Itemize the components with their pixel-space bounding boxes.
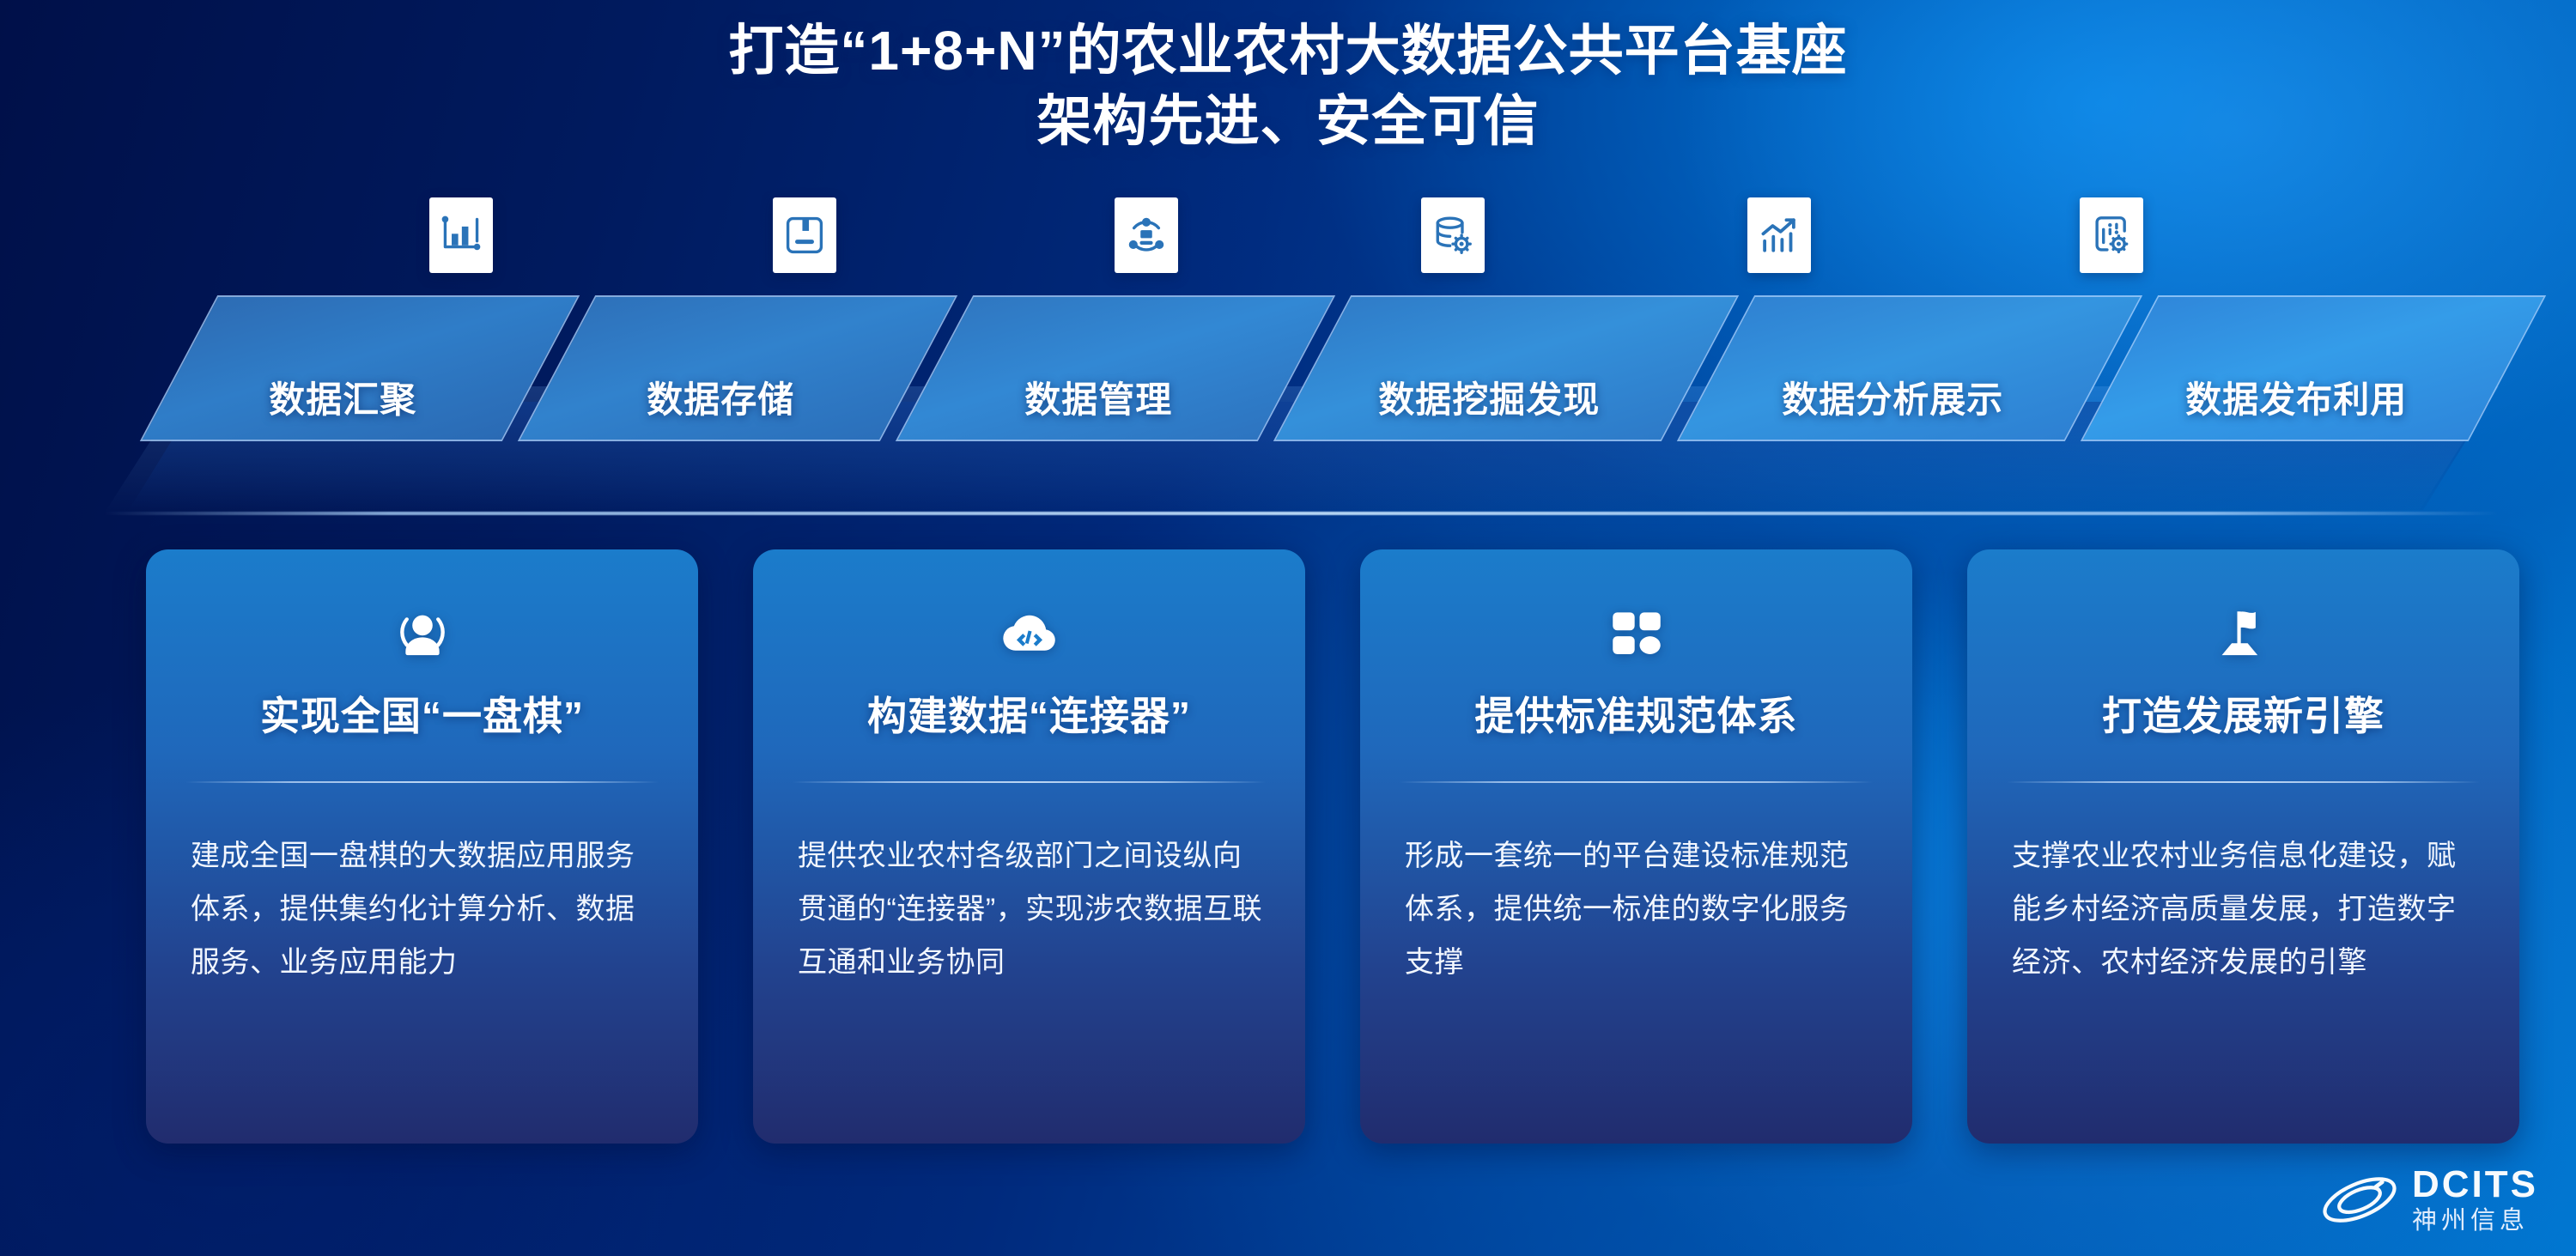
value-card-3-body: 形成一套统一的平台建设标准规范体系，提供统一标准的数字化服务支撑 bbox=[1405, 829, 1871, 989]
value-card-2[interactable]: 构建数据“连接器” 提供农业农村各级部门之间设纵向贯通的“连接器”，实现涉农数据… bbox=[753, 549, 1305, 1144]
dcits-orbit-icon bbox=[2319, 1168, 2400, 1233]
value-card-4-divider bbox=[2007, 781, 2480, 783]
flag-milestone-icon bbox=[1967, 603, 2519, 668]
capability-ribbon: 数据汇聚 数据存储 数据管理 bbox=[0, 258, 2576, 532]
ribbon-item-4[interactable]: 数据挖掘发现 bbox=[1273, 295, 1739, 441]
ribbon-item-5[interactable]: 数据分析展示 bbox=[1677, 295, 2142, 441]
ribbon-item-3[interactable]: 数据管理 bbox=[896, 295, 1335, 441]
value-card-3[interactable]: 提供标准规范体系 形成一套统一的平台建设标准规范体系，提供统一标准的数字化服务支… bbox=[1360, 549, 1912, 1144]
users-group-icon bbox=[146, 603, 698, 668]
report-gear-icon bbox=[2080, 197, 2143, 273]
grid-blocks-icon bbox=[1360, 603, 1912, 668]
title-line-1: 打造“1+8+N”的农业农村大数据公共平台基座 bbox=[0, 15, 2576, 86]
value-card-2-title: 构建数据“连接器” bbox=[753, 692, 1305, 740]
page-title: 打造“1+8+N”的农业农村大数据公共平台基座 架构先进、安全可信 bbox=[0, 15, 2576, 156]
ribbon-item-6[interactable]: 数据发布利用 bbox=[2081, 295, 2546, 441]
value-card-1-title: 实现全国“一盘棋” bbox=[146, 692, 698, 740]
brand-logo: DCITS 神州信息 bbox=[2319, 1166, 2538, 1234]
value-card-1-divider bbox=[185, 781, 659, 783]
value-card-2-body: 提供农业农村各级部门之间设纵向贯通的“连接器”，实现涉农数据互联互通和业务协同 bbox=[798, 829, 1264, 989]
network-hub-icon bbox=[1115, 197, 1178, 273]
ribbon-item-1-label: 数据汇聚 bbox=[163, 379, 522, 421]
value-card-3-divider bbox=[1400, 781, 1873, 783]
slide-root: 打造“1+8+N”的农业农村大数据公共平台基座 架构先进、安全可信 数据汇聚 数… bbox=[0, 0, 2576, 1256]
ribbon-item-2-label: 数据存储 bbox=[541, 379, 900, 421]
floppy-disk-icon bbox=[773, 197, 836, 273]
database-gear-icon bbox=[1421, 197, 1485, 273]
ribbon-platform-edge bbox=[103, 512, 2499, 515]
title-line-2: 架构先进、安全可信 bbox=[0, 86, 2576, 156]
ribbon-item-2[interactable]: 数据存储 bbox=[518, 295, 957, 441]
brand-name-cn: 神州信息 bbox=[2412, 1209, 2538, 1234]
value-card-4-title: 打造发展新引擎 bbox=[1967, 692, 2519, 740]
trend-chart-icon bbox=[1747, 197, 1811, 273]
value-card-3-title: 提供标准规范体系 bbox=[1360, 692, 1912, 740]
value-card-1[interactable]: 实现全国“一盘棋” 建成全国一盘棋的大数据应用服务体系，提供集约化计算分析、数据… bbox=[146, 549, 698, 1144]
value-card-list: 实现全国“一盘棋” 建成全国一盘棋的大数据应用服务体系，提供集约化计算分析、数据… bbox=[0, 549, 2576, 1144]
cloud-code-icon bbox=[753, 603, 1305, 668]
brand-logo-text: DCITS 神州信息 bbox=[2412, 1166, 2538, 1234]
ribbon-item-6-label: 数据发布利用 bbox=[2104, 379, 2488, 421]
value-card-2-divider bbox=[793, 781, 1266, 783]
ribbon-item-3-label: 数据管理 bbox=[919, 379, 1278, 421]
ribbon-item-1[interactable]: 数据汇聚 bbox=[140, 295, 580, 441]
ribbon-item-4-label: 数据挖掘发现 bbox=[1297, 379, 1681, 421]
value-card-1-body: 建成全国一盘棋的大数据应用服务体系，提供集约化计算分析、数据服务、业务应用能力 bbox=[191, 829, 657, 989]
value-card-4[interactable]: 打造发展新引擎 支撑农业农村业务信息化建设，赋能乡村经济高质量发展，打造数字经济… bbox=[1967, 549, 2519, 1144]
bar-chart-node-icon bbox=[429, 197, 493, 273]
ribbon-item-5-label: 数据分析展示 bbox=[1700, 379, 2085, 421]
brand-name-en: DCITS bbox=[2412, 1166, 2538, 1204]
value-card-4-body: 支撑农业农村业务信息化建设，赋能乡村经济高质量发展，打造数字经济、农村经济发展的… bbox=[2012, 829, 2478, 989]
